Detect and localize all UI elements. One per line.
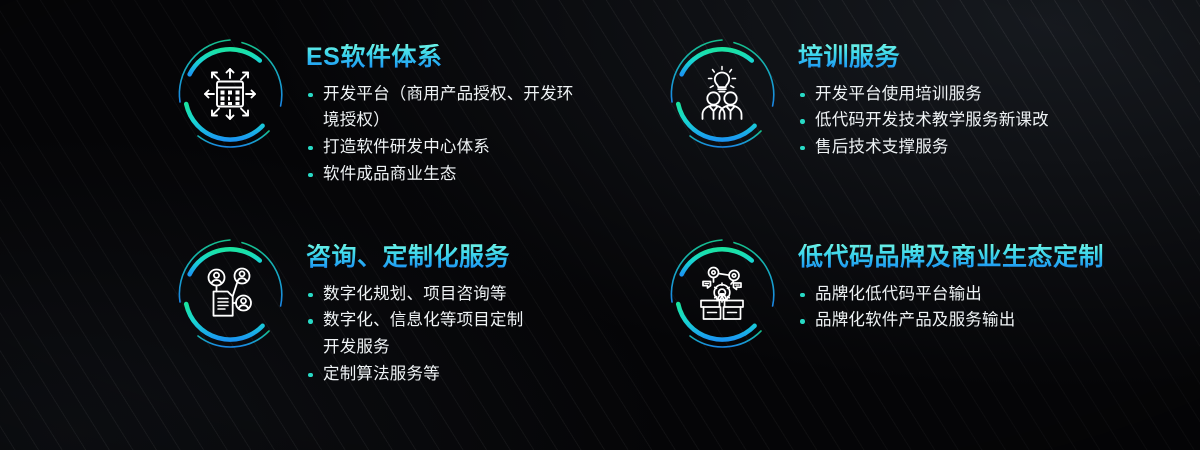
- card-bullet-list: 数字化规划、项目咨询等 数字化、信息化等项目定制开发服务 定制算法服务等: [306, 281, 530, 388]
- card-text-block: 培训服务 开发平台使用培训服务 低代码开发技术教学服务新课改 售后技术支撑服务: [798, 30, 1049, 161]
- card-title: 培训服务: [798, 44, 1049, 72]
- card-text-block: 低代码品牌及商业生态定制 品牌化低代码平台输出 品牌化软件产品及服务输出: [798, 230, 1104, 334]
- card-title: ES软件体系: [306, 44, 578, 72]
- list-item: 定制算法服务等: [306, 361, 530, 388]
- expand-grid-panel-icon: [199, 63, 261, 125]
- feature-card-training-services[interactable]: 培训服务 开发平台使用培训服务 低代码开发技术教学服务新课改 售后技术支撑服务: [660, 30, 1200, 230]
- ring-badge: [168, 32, 292, 156]
- feature-card-lowcode-brand-ecosystem[interactable]: 低代码品牌及商业生态定制 品牌化低代码平台输出 品牌化软件产品及服务输出: [660, 230, 1200, 430]
- list-item: 低代码开发技术教学服务新课改: [798, 107, 1049, 134]
- people-lightbulb-icon: [691, 63, 753, 125]
- list-item: 软件成品商业生态: [306, 161, 578, 188]
- list-item: 数字化、信息化等项目定制开发服务: [306, 307, 530, 360]
- feature-card-consulting-customization[interactable]: 咨询、定制化服务 数字化规划、项目咨询等 数字化、信息化等项目定制开发服务 定制…: [168, 230, 648, 430]
- list-item: 数字化规划、项目咨询等: [306, 281, 530, 308]
- feature-card-es-software-system[interactable]: ES软件体系 开发平台（商用产品授权、开发环境授权） 打造软件研发中心体系 软件…: [168, 30, 648, 230]
- card-text-block: ES软件体系 开发平台（商用产品授权、开发环境授权） 打造软件研发中心体系 软件…: [306, 30, 578, 187]
- list-item: 打造软件研发中心体系: [306, 134, 578, 161]
- list-item: 品牌化软件产品及服务输出: [798, 307, 1104, 334]
- card-title: 咨询、定制化服务: [306, 244, 530, 272]
- ring-badge: [660, 32, 784, 156]
- list-item: 品牌化低代码平台输出: [798, 281, 1104, 308]
- feature-card-grid: ES软件体系 开发平台（商用产品授权、开发环境授权） 打造软件研发中心体系 软件…: [0, 0, 1200, 450]
- list-item: 开发平台使用培训服务: [798, 81, 1049, 108]
- open-box-gear-network-icon: [691, 263, 753, 325]
- card-bullet-list: 开发平台使用培训服务 低代码开发技术教学服务新课改 售后技术支撑服务: [798, 81, 1049, 161]
- card-title: 低代码品牌及商业生态定制: [798, 244, 1104, 272]
- ring-badge: [168, 232, 292, 356]
- ring-badge: [660, 232, 784, 356]
- slide-canvas: ES软件体系 开发平台（商用产品授权、开发环境授权） 打造软件研发中心体系 软件…: [0, 0, 1200, 450]
- document-network-users-icon: [199, 263, 261, 325]
- card-bullet-list: 品牌化低代码平台输出 品牌化软件产品及服务输出: [798, 281, 1104, 334]
- card-bullet-list: 开发平台（商用产品授权、开发环境授权） 打造软件研发中心体系 软件成品商业生态: [306, 81, 578, 188]
- list-item: 开发平台（商用产品授权、开发环境授权）: [306, 81, 578, 134]
- card-text-block: 咨询、定制化服务 数字化规划、项目咨询等 数字化、信息化等项目定制开发服务 定制…: [306, 230, 530, 387]
- list-item: 售后技术支撑服务: [798, 134, 1049, 161]
